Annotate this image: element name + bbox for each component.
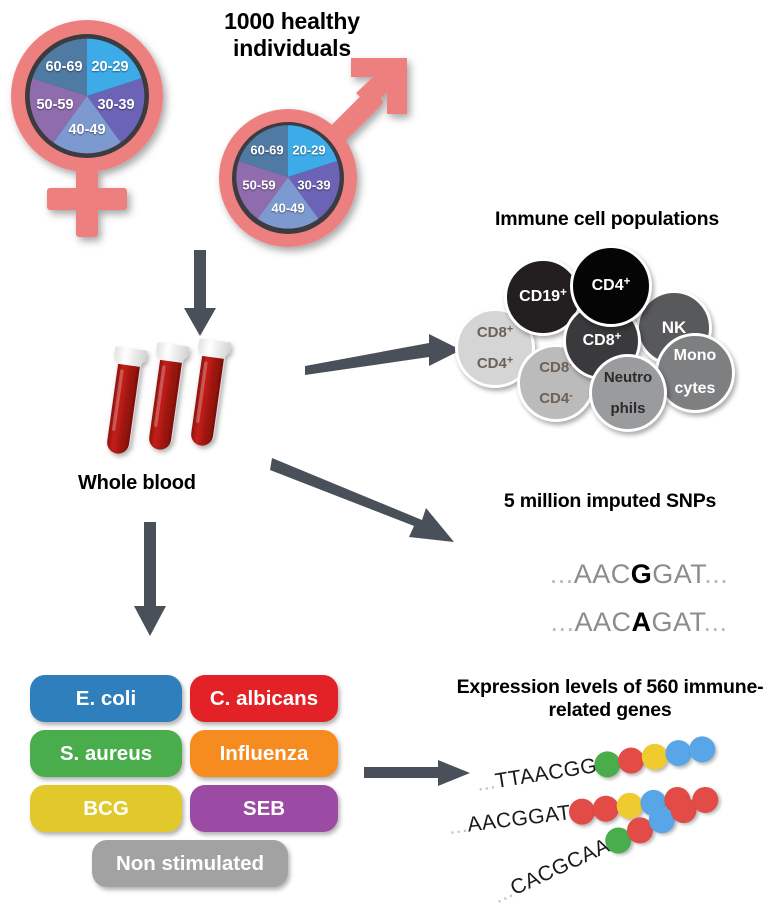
immune-cell-population-cluster: CD8+ CD4+ CD19+ CD4+ NK CD8+ Mono cytes … bbox=[455, 240, 755, 415]
stimulus-chip-e-coli[interactable]: E. coli bbox=[30, 675, 182, 722]
expression-bead bbox=[591, 794, 620, 823]
chip-label: Non stimulated bbox=[116, 852, 264, 876]
chip-label: SEB bbox=[243, 797, 285, 821]
stimulus-chip-c-albicans[interactable]: C. albicans bbox=[190, 675, 338, 722]
stimulus-chip-non-stimulated[interactable]: Non stimulated bbox=[92, 840, 288, 887]
male-age-pie-chart: 20-29 30-39 40-49 50-59 60-69 bbox=[233, 122, 343, 232]
female-age-pie-chart: 20-29 30-39 40-49 50-59 60-69 bbox=[26, 35, 148, 157]
stimulus-chip-seb[interactable]: SEB bbox=[190, 785, 338, 832]
snp-right: GAT bbox=[652, 607, 704, 637]
chip-label: C. albicans bbox=[210, 687, 318, 711]
snp-prefix: ... bbox=[550, 607, 574, 637]
strand-sequence: CACGCAA bbox=[507, 834, 613, 900]
stimulus-chip-bcg[interactable]: BCG bbox=[30, 785, 182, 832]
cell-label: CD8+ bbox=[583, 333, 622, 350]
chip-label: S. aureus bbox=[60, 742, 152, 766]
cell-label-line-2: phils bbox=[604, 401, 652, 417]
gene-expression-strands: ...TTAACGG ...AACGGAT ...CACGCAA bbox=[455, 740, 771, 915]
snp-left: AAC bbox=[574, 607, 631, 637]
arrow-blood-to-stimuli bbox=[130, 522, 170, 640]
cell-label-line-1: Mono bbox=[674, 348, 717, 365]
label-whole-blood: Whole blood bbox=[78, 472, 278, 496]
arrow-blood-to-immune bbox=[305, 322, 465, 384]
cell-label-line-2: CD4- bbox=[539, 391, 573, 407]
snp-row-alternate: ...AACAGAT... bbox=[470, 576, 760, 669]
chip-label: BCG bbox=[83, 797, 129, 821]
figure-canvas: 1000 healthy individuals 2 bbox=[0, 0, 771, 922]
cell-neutrophils: Neutro phils bbox=[589, 354, 667, 432]
section-title-expression: Expression levels of 560 immune-related … bbox=[450, 676, 770, 722]
cell-label-line-2: cytes bbox=[674, 381, 717, 398]
arrow-blood-to-snps bbox=[270, 450, 460, 550]
cell-label-line-1: CD8- bbox=[539, 360, 573, 376]
strand-sequence: TTAACGG bbox=[494, 754, 599, 793]
cell-label-line-1: Neutro bbox=[604, 370, 652, 386]
section-title-immune-cells: Immune cell populations bbox=[452, 208, 762, 231]
chip-label: E. coli bbox=[76, 687, 136, 711]
chip-label: Influenza bbox=[220, 742, 309, 766]
snp-suffix: ... bbox=[704, 607, 728, 637]
cell-label-line-1: CD8+ bbox=[477, 325, 513, 341]
stimulus-chip-influenza[interactable]: Influenza bbox=[190, 730, 338, 777]
strand-sequence: AACGGAT bbox=[466, 801, 572, 836]
expression-bead bbox=[688, 734, 718, 764]
cell-label-line-2: CD4+ bbox=[477, 356, 513, 372]
section-title-snps: 5 million imputed SNPs bbox=[462, 490, 758, 513]
cell-label: CD4+ bbox=[592, 278, 631, 295]
whole-blood-tubes bbox=[96, 330, 266, 465]
cell-label: CD19+ bbox=[519, 289, 567, 306]
stimulus-chip-s-aureus[interactable]: S. aureus bbox=[30, 730, 182, 777]
snp-sequence-illustration: ...AACGGAT... ...AACAGAT... bbox=[470, 528, 760, 628]
cell-monocytes: Mono cytes bbox=[655, 333, 735, 413]
snp-variant-base: A bbox=[632, 607, 652, 637]
arrow-cohort-to-blood bbox=[180, 250, 220, 340]
cell-cd4pos: CD4+ bbox=[570, 245, 652, 327]
